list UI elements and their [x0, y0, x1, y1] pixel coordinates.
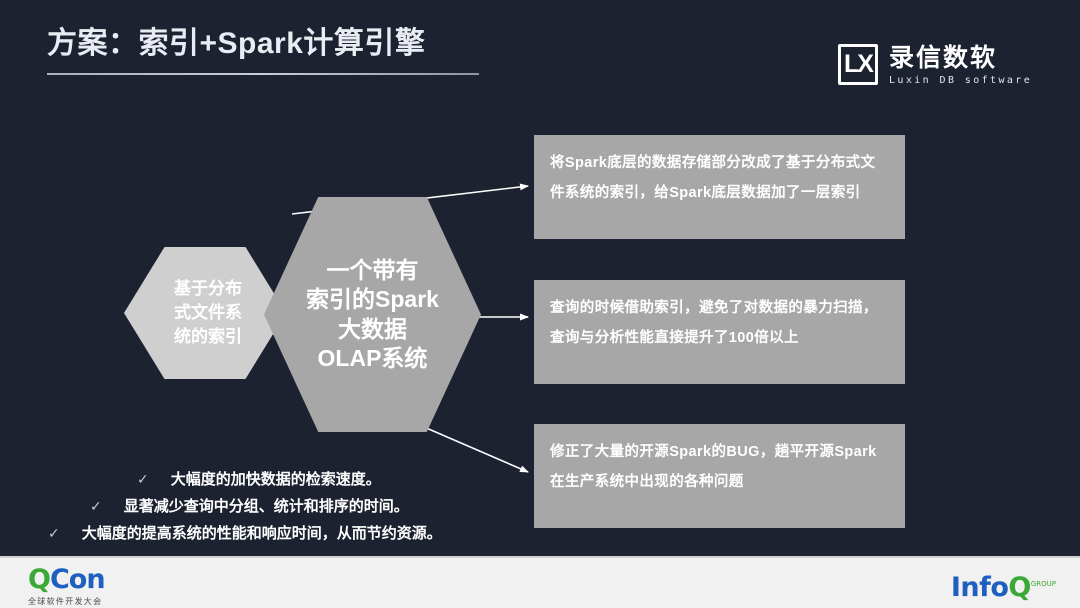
check-icon: ✓: [137, 466, 149, 492]
company-logo: LX 录信数软 Luxin DB software: [838, 44, 1032, 86]
qcon-logo: QCon 全球软件开发大会: [28, 566, 105, 607]
qcon-letter-q: Q: [28, 564, 50, 595]
page-title: 方案：索引+Spark计算引擎: [47, 18, 425, 62]
hexagon-small-label: 基于分布 式文件系 统的索引: [168, 277, 242, 349]
hex-small-line-2: 式文件系: [174, 301, 242, 325]
infoq-letter-q: Q: [1008, 572, 1030, 603]
list-item: ✓ 显著减少查询中分组、统计和排序的时间。: [40, 493, 500, 520]
lx-monogram: LX: [841, 47, 875, 82]
company-name-cn: 录信数软: [889, 45, 1032, 72]
qcon-letters-con: Con: [50, 564, 105, 595]
callout-box-query-performance[interactable]: 查询的时候借助索引，避免了对数据的暴力扫描，查询与分析性能直接提升了100倍以上: [534, 280, 905, 384]
qcon-subtitle: 全球软件开发大会: [28, 596, 105, 607]
hex-big-line-4: OLAP系统: [306, 344, 439, 373]
company-logo-text: 录信数软 Luxin DB software: [889, 44, 1032, 86]
company-name-en: Luxin DB software: [889, 75, 1032, 86]
check-icon: ✓: [48, 520, 60, 546]
infoq-logo: InfoQGROUP: [951, 569, 1056, 603]
luxin-lx-mark-icon: LX: [838, 44, 878, 85]
slide-canvas: 方案：索引+Spark计算引擎 LX 录信数软 Luxin DB softwar…: [0, 0, 1080, 608]
infoq-group-mark: GROUP: [1031, 580, 1056, 588]
hex-big-line-2: 索引的Spark: [306, 285, 439, 314]
check-icon: ✓: [90, 493, 102, 519]
hexagon-big-label: 一个带有 索引的Spark 大数据 OLAP系统: [306, 256, 439, 374]
title-underline: [47, 73, 479, 75]
slide-footer: QCon 全球软件开发大会 InfoQGROUP: [0, 556, 1080, 608]
hex-small-line-3: 统的索引: [174, 325, 242, 349]
hex-small-line-1: 基于分布: [174, 277, 242, 301]
list-item: ✓ 大幅度的加快数据的检索速度。: [40, 466, 500, 493]
callout-box-storage-index[interactable]: 将Spark底层的数据存储部分改成了基于分布式文件系统的索引，给Spark底层数…: [534, 135, 905, 239]
hex-big-line-3: 大数据: [306, 315, 439, 344]
hexagon-spark-olap-system[interactable]: 一个带有 索引的Spark 大数据 OLAP系统: [264, 197, 481, 432]
infoq-letters-info: Info: [951, 572, 1009, 603]
list-item-label: 显著减少查询中分组、统计和排序的时间。: [124, 494, 409, 520]
benefits-list: ✓ 大幅度的加快数据的检索速度。 ✓ 显著减少查询中分组、统计和排序的时间。 ✓…: [40, 466, 500, 547]
hexagon-index-filesystem[interactable]: 基于分布 式文件系 统的索引: [124, 247, 286, 379]
callout-box-bug-fixes[interactable]: 修正了大量的开源Spark的BUG，趟平开源Spark在生产系统中出现的各种问题: [534, 424, 905, 528]
list-item-label: 大幅度的加快数据的检索速度。: [171, 467, 381, 493]
list-item: ✓ 大幅度的提高系统的性能和响应时间，从而节约资源。: [40, 520, 500, 547]
hex-big-line-1: 一个带有: [306, 256, 439, 285]
list-item-label: 大幅度的提高系统的性能和响应时间，从而节约资源。: [82, 521, 442, 547]
qcon-wordmark: QCon: [28, 566, 105, 594]
